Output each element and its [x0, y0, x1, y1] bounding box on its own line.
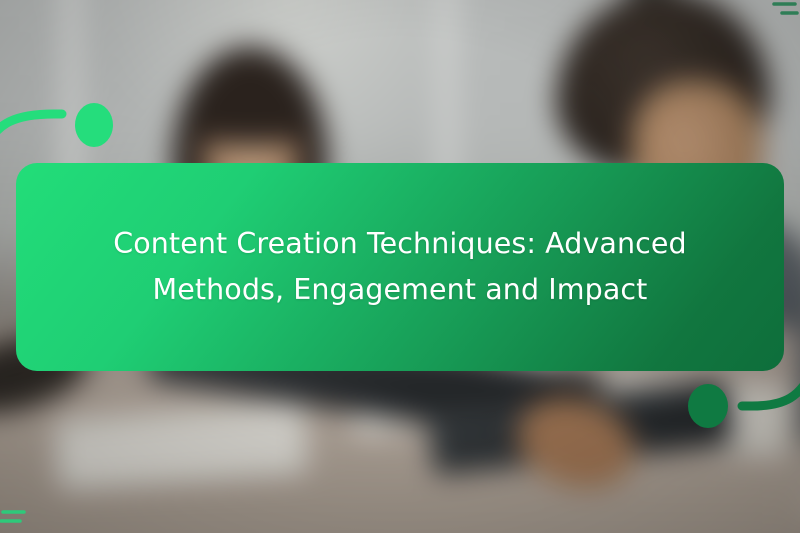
title-card: Content Creation Techniques: Advanced Me…: [16, 163, 784, 371]
hero-banner: Content Creation Techniques: Advanced Me…: [0, 0, 800, 533]
page-title: Content Creation Techniques: Advanced Me…: [100, 221, 700, 314]
